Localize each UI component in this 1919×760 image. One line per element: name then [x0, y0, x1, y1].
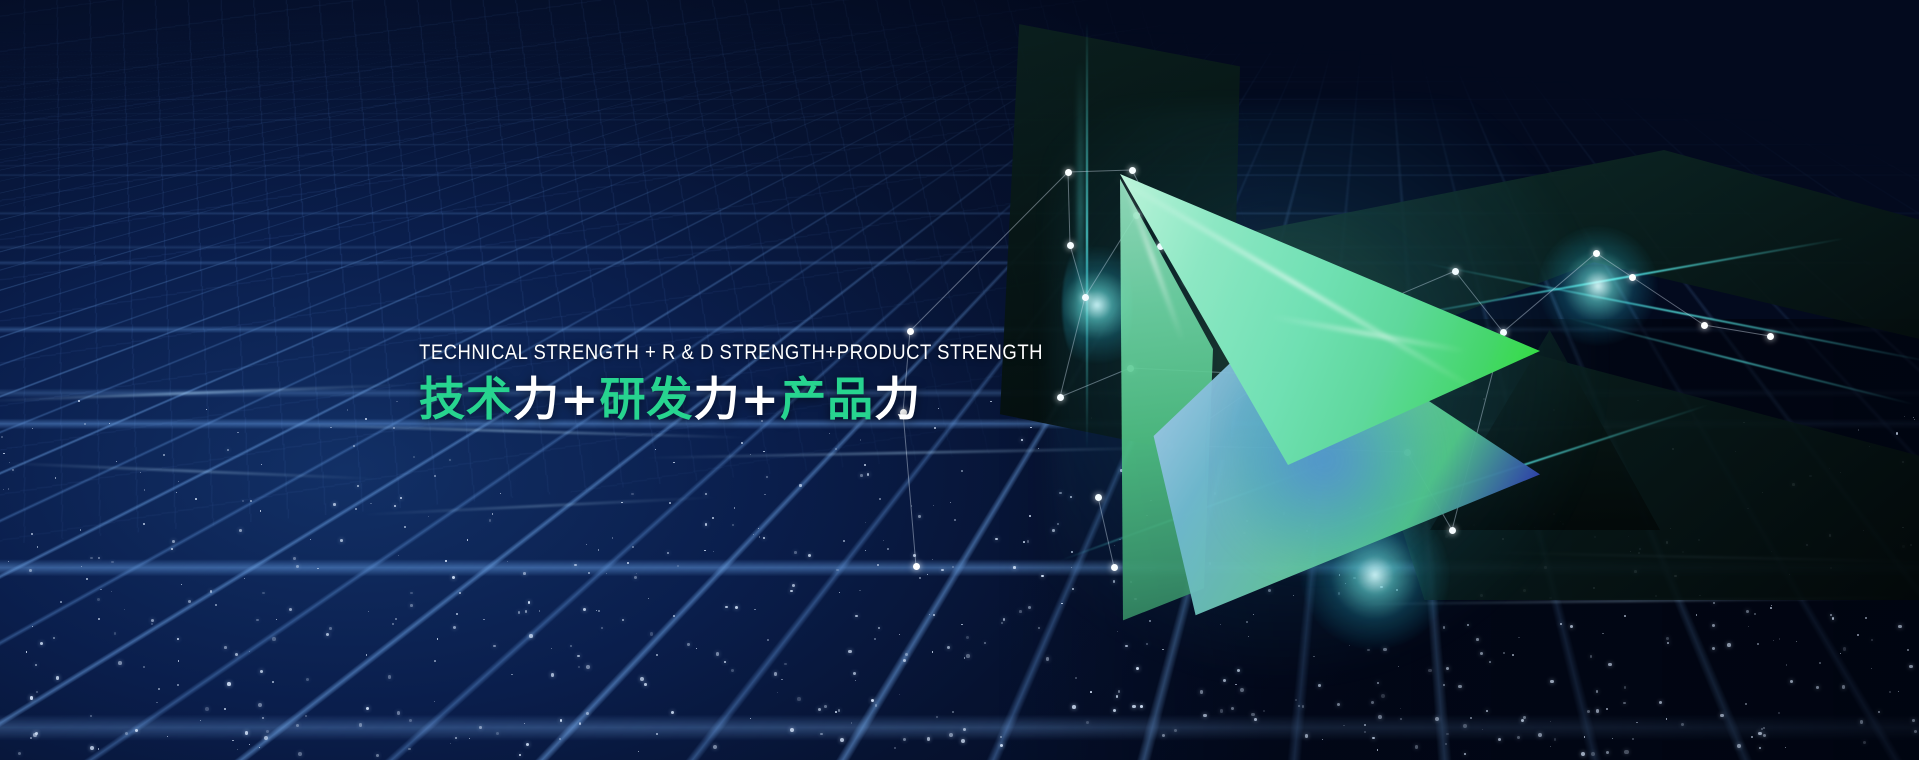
network-node-25: [913, 563, 920, 570]
network-node-27: [907, 328, 914, 335]
headline-segment-3: 研发: [600, 372, 694, 426]
network-node-15: [1767, 333, 1774, 340]
headline-segment-7: 力: [874, 372, 921, 426]
headline-segment-2: +: [560, 372, 600, 426]
hero-banner: TECHNICAL STRENGTH + R & D STRENGTH+PROD…: [0, 0, 1919, 760]
headline-segment-0: 技术: [419, 372, 513, 426]
network-node-13: [1629, 274, 1636, 281]
headline-segment-6: 产品: [780, 372, 874, 426]
headline-segment-1: 力: [513, 372, 560, 426]
hero-copy: TECHNICAL STRENGTH + R & D STRENGTH+PROD…: [419, 342, 1039, 424]
headline-segment-4: 力: [694, 372, 741, 426]
hero-eyebrow: TECHNICAL STRENGTH + R & D STRENGTH+PROD…: [419, 342, 965, 363]
play-triangle-3d: [1120, 165, 1540, 625]
network-node-14: [1701, 322, 1708, 329]
page-title: 技术力+研发力+产品力: [419, 376, 1039, 424]
headline-segment-5: +: [741, 372, 781, 426]
